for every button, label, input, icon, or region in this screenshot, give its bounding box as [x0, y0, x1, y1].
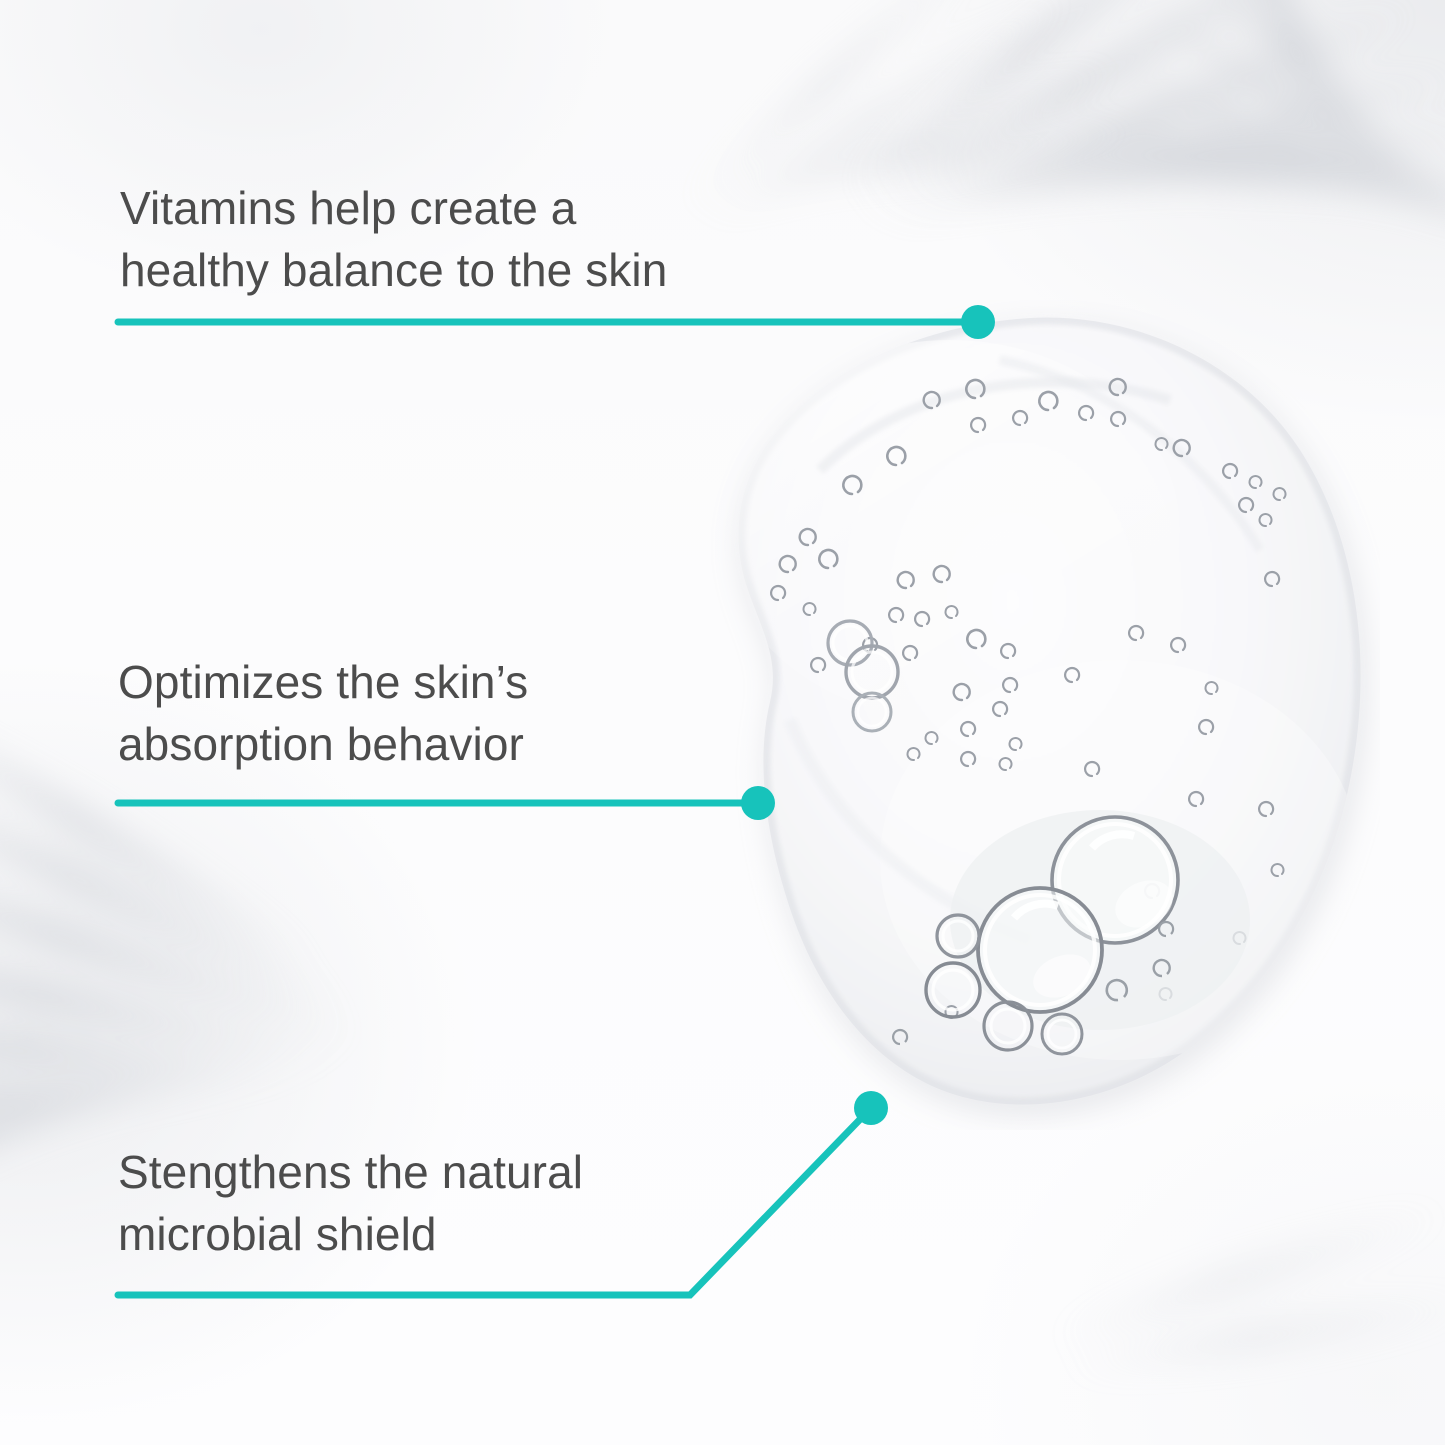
palm-shadow-bottom-right — [1020, 1120, 1445, 1445]
gel-blob-svg — [700, 300, 1380, 1130]
gel-blob — [700, 300, 1380, 1130]
callout-text-2: Optimizes the skin’s absorption behavior — [118, 652, 778, 775]
callout-text-3: Stengthens the natural microbial shield — [118, 1142, 818, 1265]
callout-text-1: Vitamins help create a healthy balance t… — [120, 178, 880, 301]
infographic-canvas: Vitamins help create a healthy balance t… — [0, 0, 1445, 1445]
